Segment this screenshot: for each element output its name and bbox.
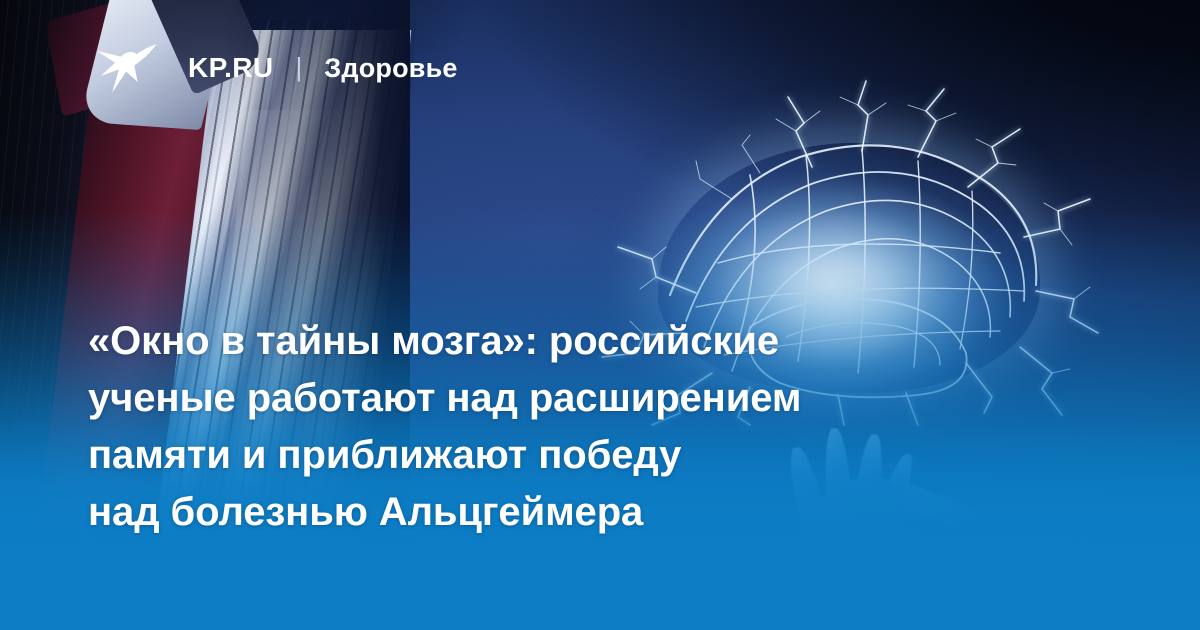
headline-line: ученые работают над расширением [88,370,1048,427]
headline-line: «Окно в тайны мозга»: российские [88,313,1048,370]
brand-name[interactable]: KP.RU [188,54,274,82]
headline-line: над болезнью Альцгеймера [88,484,1048,541]
section-label[interactable]: Здоровье [324,53,457,84]
headline: «Окно в тайны мозга»: российские ученые … [88,313,1048,541]
brand-header: KP.RU | Здоровье [0,0,458,94]
headline-line: памяти и приближают победу [88,427,1048,484]
share-card: KP.RU | Здоровье «Окно в тайны мозга»: р… [0,0,1200,630]
swallow-bird-icon [96,42,158,94]
header-separator: | [296,52,303,83]
